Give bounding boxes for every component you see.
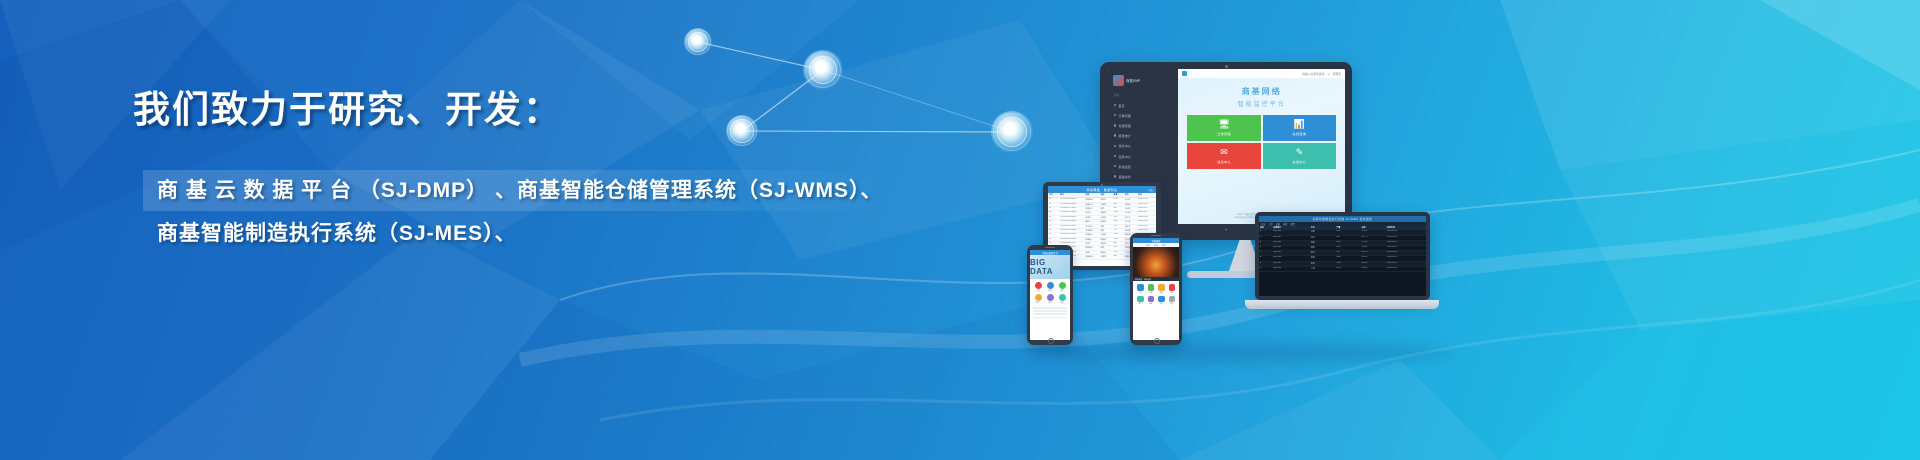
table-cell: 主控模块 <box>1084 229 1099 232</box>
table-cell: 成品 <box>1099 225 1112 228</box>
table-cell: 成品箱 K <box>1084 246 1099 249</box>
laptop-title: 商基智能制造执行系统 SJ-MES 实时监控 <box>1313 217 1373 221</box>
table-cell: 连接件 B <box>1084 203 1099 206</box>
menu-item-label: 仓储 <box>1149 292 1152 294</box>
media-thumbnail[interactable] <box>1133 247 1179 277</box>
user-label[interactable]: 管理员 <box>1333 72 1341 76</box>
menu-item-label: 订单 <box>1139 292 1142 294</box>
cluster-shadow <box>1035 343 1455 363</box>
menu-item[interactable]: 消息 <box>1157 296 1166 306</box>
col-header: 状态 <box>1124 193 1137 197</box>
sidebar-item-label: 任务中心 <box>1118 154 1130 159</box>
phone-menu-grid: 订单库存报表客户消息设置 <box>1030 279 1070 307</box>
table-cell: 2014-01-13 <box>1386 230 1426 234</box>
menu-item-icon <box>1137 284 1144 291</box>
table-cell: EQ-0102 <box>1272 236 1310 240</box>
bullet-icon <box>1114 175 1116 177</box>
bullet-icon <box>1114 104 1116 106</box>
menu-item[interactable]: 制造 <box>1157 284 1166 294</box>
table-cell: 入库 <box>1310 267 1335 271</box>
status-badge: ● <box>1259 262 1272 266</box>
home-button-icon[interactable] <box>1154 338 1160 344</box>
table-cell: SJ-20140110-0010 <box>1059 238 1084 241</box>
menu-item[interactable]: 报表 <box>1168 284 1177 294</box>
page-title: 我们致力于研究、开发： <box>133 88 993 132</box>
table-row[interactable]: ●EQ-0108入库119099.4%2014-01-13 <box>1259 267 1426 272</box>
table-cell: 09 <box>1048 233 1059 236</box>
table-cell: 2014-01-09 <box>1137 229 1156 232</box>
table-cell: SJ-20140109-0008 <box>1059 229 1084 232</box>
table-cell: 装配 <box>1310 246 1335 250</box>
table-cell: 640 <box>1113 242 1124 245</box>
table-cell: 显示屏 G <box>1084 225 1099 228</box>
table-cell: SJ-20140107-0003 <box>1059 207 1084 210</box>
table-cell: SJ-20140108-0006 <box>1059 220 1084 223</box>
table-cell: 成品 <box>1099 246 1112 249</box>
edit-icon: ✎ <box>1296 148 1304 157</box>
status-badge: ● <box>1259 246 1272 250</box>
table-cell: 已入库 <box>1124 211 1137 214</box>
table-cell: SJ-20140110-0009 <box>1059 233 1084 236</box>
phone-menu-grid: 订单仓储制造报表客户审批消息更多 <box>1133 281 1179 308</box>
table-cell: 2014-01-09 <box>1137 225 1156 228</box>
menu-item-label: 设置 <box>1060 302 1063 304</box>
sidebar-item-warehouse[interactable]: 仓储管理 <box>1110 120 1175 130</box>
table-cell: 1190 <box>1335 267 1360 271</box>
menu-item-icon <box>1158 284 1165 291</box>
table-cell: 760 <box>1113 216 1124 219</box>
table-cell: 275 <box>1113 229 1124 232</box>
tablet-title: 商基网络 · 数据列表 <box>1086 188 1117 192</box>
status-badge: ● <box>1259 256 1272 260</box>
bullet-icon <box>1114 155 1116 157</box>
table-cell: 原材料 <box>1099 198 1112 201</box>
menu-item[interactable]: 订单 <box>1136 284 1145 294</box>
table-cell: EQ-0103 <box>1272 241 1310 245</box>
table-cell: 2014-01-13 <box>1386 241 1426 245</box>
menu-item[interactable]: 报表 <box>1057 282 1067 292</box>
menu-item-icon <box>1169 296 1176 303</box>
table-cell: 08 <box>1048 229 1059 232</box>
table-cell: 2014-01-13 <box>1386 262 1426 266</box>
menu-item-icon <box>1047 294 1054 301</box>
table-cell: 外壳 D <box>1084 211 1099 214</box>
table-cell: 04 <box>1048 211 1059 214</box>
table-cell: EQ-0105 <box>1272 251 1310 255</box>
table-cell: 2014-01-13 <box>1386 267 1426 271</box>
dashboard-tiles-row-2: ✉ 消息中心 ✎ 在线办公 <box>1178 141 1345 169</box>
table-cell: 1580 <box>1335 256 1360 260</box>
table-cell: 01 <box>1048 198 1059 201</box>
sidebar-section-label: 导航 <box>1114 93 1175 97</box>
table-cell: 10 <box>1048 238 1059 241</box>
col-header: 编号 <box>1059 193 1084 197</box>
menu-item-label: 消息 <box>1160 303 1163 305</box>
col-header: 序号 <box>1048 193 1059 197</box>
table-cell: 98.7% <box>1361 236 1386 240</box>
table-cell: 成品 <box>1099 207 1112 210</box>
menu-item-label: 报表 <box>1170 292 1173 294</box>
table-cell: 包装箱 A <box>1084 198 1099 201</box>
menu-item-icon <box>1047 282 1054 289</box>
menu-item-icon <box>1137 296 1144 303</box>
list-item <box>1033 317 1067 319</box>
menu-item[interactable]: 仓储 <box>1147 284 1156 294</box>
menu-item[interactable]: 设置 <box>1057 294 1067 304</box>
sidebar-item-basedata[interactable]: 基础资料 <box>1110 171 1175 181</box>
menu-item[interactable]: 客户 <box>1033 294 1043 304</box>
menu-item[interactable]: 库存 <box>1045 282 1055 292</box>
table-cell: SJ-20140109-0007 <box>1059 225 1084 228</box>
network-node-2 <box>803 50 843 90</box>
menu-item-icon <box>1148 296 1155 303</box>
table-cell: 860 <box>1113 203 1124 206</box>
table-cell: 2014-01-06 <box>1137 203 1156 206</box>
table-cell: 托盘 J <box>1084 242 1099 245</box>
table-cell: 2014-01-13 <box>1386 256 1426 260</box>
table-cell: 03 <box>1048 207 1059 210</box>
table-cell: 原材料 <box>1099 220 1112 223</box>
table-cell: 99.4% <box>1361 267 1386 271</box>
sidebar-logo: 商基DMP <box>1113 75 1175 86</box>
dashboard-topbar: 请输入关键字搜索 ⚲ 管理员 <box>1178 69 1345 78</box>
menu-item-icon <box>1059 294 1066 301</box>
menu-item[interactable]: 更多 <box>1168 296 1177 306</box>
table-cell: 98.3% <box>1361 262 1386 266</box>
menu-item-icon <box>1158 296 1165 303</box>
table-cell: 线束 E <box>1084 216 1099 219</box>
home-button-icon[interactable] <box>1048 338 1054 344</box>
list-item <box>1033 310 1067 312</box>
menu-item-icon <box>1035 282 1042 289</box>
sidebar-item-label: 消息中心 <box>1118 143 1130 148</box>
menu-item-label: 订单 <box>1036 290 1039 292</box>
sidebar-item-label: 订单管理 <box>1118 113 1130 118</box>
dashboard-main: 请输入关键字搜索 ⚲ 管理员 商基网络 智能监控平台 🖥 日常管理 <box>1178 69 1345 224</box>
sidebar-item-orders[interactable]: 订单管理 <box>1110 110 1175 120</box>
app-logo-icon <box>1182 71 1187 76</box>
table-cell: 原材料 <box>1099 242 1112 245</box>
hero-text: BIG DATA <box>1030 258 1070 276</box>
table-cell: 2014-01-13 <box>1386 246 1426 250</box>
sidebar-item-home[interactable]: 首页 <box>1110 100 1175 110</box>
phone-hero-image: BIG DATA <box>1030 255 1070 279</box>
table-cell: 2014-01-08 <box>1137 220 1156 223</box>
table-cell: 980 <box>1113 255 1124 258</box>
table-cell: 注塑 <box>1310 230 1335 234</box>
hero-subtitle: 智能监控平台 <box>1178 99 1345 108</box>
table-cell: SJ-20140108-0005 <box>1059 216 1084 219</box>
menu-item-icon <box>1169 284 1176 291</box>
table-cell: 原材料 <box>1099 211 1112 214</box>
table-cell: 已入库 <box>1124 198 1137 201</box>
table-cell: 9800 <box>1113 220 1124 223</box>
phone-title: 商基云数据平台 <box>1042 251 1057 255</box>
table-cell: 420 <box>1113 246 1124 249</box>
table-cell: 螺丝 F <box>1084 220 1099 223</box>
mail-icon: ✉ <box>1220 148 1228 157</box>
table-cell: 1120 <box>1335 246 1360 250</box>
laptop-base <box>1245 300 1439 309</box>
sidebar-item-label: 仓储管理 <box>1118 123 1130 128</box>
status-badge: ● <box>1259 241 1272 245</box>
table-cell: 540 <box>1113 207 1124 210</box>
sidebar-item-messages[interactable]: 消息中心 <box>1110 141 1175 151</box>
sidebar-item-tasks[interactable]: 任务中心 <box>1110 151 1175 161</box>
sidebar-item-label: 系统设置 <box>1118 164 1130 169</box>
table-cell: EQ-0104 <box>1272 246 1310 250</box>
menu-item-label: 消息 <box>1048 302 1051 304</box>
bullet-icon <box>1114 165 1116 167</box>
camera-icon <box>1225 65 1228 68</box>
bullet-icon <box>1114 145 1116 147</box>
table-cell: 检测 <box>1310 256 1335 260</box>
menu-item[interactable]: 客户 <box>1136 296 1145 306</box>
product-list: 商 基 云 数 据 平 台 （SJ-DMP） 、商基智能仓储管理系统（SJ-WM… <box>133 170 993 244</box>
status-badge: ● <box>1259 236 1272 240</box>
table-cell: 半成品 <box>1099 255 1112 258</box>
tile-label: 日常管理 <box>1217 131 1231 136</box>
tile-online-query[interactable]: 📊 在线查询 <box>1263 115 1336 141</box>
tile-label: 在线办公 <box>1293 159 1307 164</box>
menu-item-label: 制造 <box>1160 292 1163 294</box>
table-cell: 06 <box>1048 220 1059 223</box>
table-cell: 生产中 <box>1124 216 1137 219</box>
table-cell: 3100 <box>1113 251 1124 254</box>
table-cell: 电源线 M <box>1084 255 1099 258</box>
table-cell: 冲压 <box>1310 236 1335 240</box>
phone-right-screen: 商基网络 首页 资讯 我的 智能制造 · 现场直播 订单仓储制造报表客户审批消息… <box>1133 238 1179 340</box>
table-cell: 半成品 <box>1099 216 1112 219</box>
table-cell: 半成品 <box>1099 233 1112 236</box>
phone-left-screen: 商基云数据平台 BIG DATA 订单库存报表客户消息设置 <box>1030 250 1070 340</box>
speaker-icon <box>1151 235 1161 236</box>
table-cell: 已入库 <box>1124 220 1137 223</box>
sidebar-item-settings[interactable]: 系统设置 <box>1110 161 1175 171</box>
menu-item-label: 报表 <box>1060 290 1063 292</box>
product-line-1: 商 基 云 数 据 平 台 （SJ-DMP） 、商基智能仓储管理系统（SJ-WM… <box>143 170 891 211</box>
table-cell: 2014-01-13 <box>1386 236 1426 240</box>
list-item <box>1033 313 1067 315</box>
col-header: 数量 <box>1113 193 1124 197</box>
table-cell: 2014-01-07 <box>1137 211 1156 214</box>
phone-left-device: 商基云数据平台 BIG DATA 订单库存报表客户消息设置 <box>1027 245 1073 345</box>
table-cell: 99.9% <box>1361 256 1386 260</box>
dashboard-tiles-row-1: 🖥 日常管理 📊 在线查询 <box>1178 108 1345 141</box>
table-cell: 99.6% <box>1361 246 1386 250</box>
sidebar-item-label: 首页 <box>1118 103 1124 108</box>
menu-item-label: 审批 <box>1149 303 1152 305</box>
bullet-icon <box>1114 124 1116 126</box>
table-cell: 1455 <box>1335 241 1360 245</box>
laptop-table-body: ●EQ-0101注塑128099.2%2014-01-13●EQ-0102冲压9… <box>1259 230 1426 272</box>
menu-item[interactable]: 审批 <box>1147 296 1156 306</box>
table-cell: 原材料 <box>1099 251 1112 254</box>
table-cell: 97.5% <box>1361 241 1386 245</box>
table-cell: 待检验 <box>1124 203 1137 206</box>
table-cell: EQ-0107 <box>1272 262 1310 266</box>
laptop-body: 商基智能制造执行系统 SJ-MES 实时监控 总览 工单 设备 质检 报警 状态… <box>1255 212 1430 300</box>
col-header: 类型 <box>1099 193 1112 197</box>
tile-online-office[interactable]: ✎ 在线办公 <box>1263 143 1336 169</box>
sidebar-item-label: 基础资料 <box>1118 174 1130 179</box>
monitor-icon: 🖥 <box>1218 120 1229 129</box>
menu-item-icon <box>1148 284 1155 291</box>
tile-label: 在线查询 <box>1293 131 1307 136</box>
table-cell: 包装 <box>1310 262 1335 266</box>
table-cell: 喷涂 <box>1310 251 1335 255</box>
device-cluster: 商基DMP 导航 首页 订单管理 仓储管理 <box>1005 55 1485 355</box>
apple-logo-icon <box>1223 229 1230 237</box>
table-cell: 已出库 <box>1124 207 1137 210</box>
menu-item[interactable]: 订单 <box>1033 282 1043 292</box>
table-cell: 05 <box>1048 216 1059 219</box>
laptop-device: 商基智能制造执行系统 SJ-MES 实时监控 总览 工单 设备 质检 报警 状态… <box>1255 212 1430 310</box>
table-cell: 1280 <box>1335 230 1360 234</box>
table-cell: 1340 <box>1335 262 1360 266</box>
menu-item-icon <box>1035 294 1042 301</box>
table-cell: EQ-0101 <box>1272 230 1310 234</box>
bullet-icon <box>1114 114 1116 116</box>
table-cell: 1180 <box>1113 233 1124 236</box>
sidebar-item-reports[interactable]: 报表统计 <box>1110 131 1175 141</box>
table-cell: 半成品 <box>1099 203 1112 206</box>
table-cell: 标签纸 I <box>1084 238 1099 241</box>
bullet-icon <box>1114 134 1116 136</box>
search-input[interactable]: 请输入关键字搜索 <box>1302 72 1324 76</box>
network-node-1 <box>684 28 712 56</box>
menu-item-label: 客户 <box>1036 302 1039 304</box>
table-cell: 2014-01-07 <box>1137 207 1156 210</box>
table-cell: 5400 <box>1113 238 1124 241</box>
table-cell: 2014-01-13 <box>1386 251 1426 255</box>
menu-item[interactable]: 消息 <box>1045 294 1055 304</box>
table-cell: 99.2% <box>1361 230 1386 234</box>
table-cell: 2300 <box>1113 211 1124 214</box>
table-cell: SJ-20140106-0002 <box>1059 203 1084 206</box>
table-cell: EQ-0106 <box>1272 256 1310 260</box>
table-cell: 07 <box>1048 225 1059 228</box>
hero-title: 商基网络 <box>1178 86 1345 97</box>
table-cell: 2014-01-06 <box>1137 198 1156 201</box>
table-cell: SJ-20140107-0004 <box>1059 211 1084 214</box>
table-cell: 960 <box>1335 236 1360 240</box>
table-cell: EQ-0108 <box>1272 267 1310 271</box>
table-cell: 胶带 L <box>1084 251 1099 254</box>
table-cell: 电控板 C <box>1084 207 1099 210</box>
product-line-2: 商基智能制造执行系统（SJ-MES）、 <box>133 211 993 244</box>
table-cell: 待发货 <box>1124 225 1137 228</box>
table-cell: 已出库 <box>1124 229 1137 232</box>
menu-item-icon <box>1059 282 1066 289</box>
col-header: 名称 <box>1084 193 1099 197</box>
table-cell: 原材料 <box>1099 238 1112 241</box>
sidebar-item-label: 报表统计 <box>1118 133 1130 138</box>
phone-right-device: 商基网络 首页 资讯 我的 智能制造 · 现场直播 订单仓储制造报表客户审批消息… <box>1130 233 1182 345</box>
table-cell: 1200 <box>1113 198 1124 201</box>
table-cell: 02 <box>1048 203 1059 206</box>
topbar-right: 请输入关键字搜索 ⚲ 管理员 <box>1302 72 1341 76</box>
table-cell: 310 <box>1113 225 1124 228</box>
table-cell: 传感器 H <box>1084 233 1099 236</box>
search-icon[interactable]: ⚲ <box>1328 72 1330 76</box>
sidebar-logo-label: 商基DMP <box>1126 78 1140 83</box>
status-badge: ● <box>1259 230 1272 234</box>
tile-message-center[interactable]: ✉ 消息中心 <box>1187 143 1260 169</box>
phone-title: 商基网络 <box>1152 239 1161 243</box>
laptop-screen: 商基智能制造执行系统 SJ-MES 实时监控 总览 工单 设备 质检 报警 状态… <box>1259 216 1426 296</box>
phone-list-placeholder <box>1030 307 1070 320</box>
table-cell: 730 <box>1335 251 1360 255</box>
banner-copy: 我们致力于研究、开发： 商 基 云 数 据 平 台 （SJ-DMP） 、商基智能… <box>133 88 993 244</box>
hero-banner: 我们致力于研究、开发： 商 基 云 数 据 平 台 （SJ-DMP） 、商基智能… <box>0 0 1920 460</box>
tile-label: 消息中心 <box>1217 159 1231 164</box>
export-button[interactable]: 导出 <box>1148 188 1153 192</box>
chart-icon: 📊 <box>1294 120 1305 129</box>
list-item <box>1033 307 1067 309</box>
brand-logo-icon <box>1113 75 1124 86</box>
tablet-header: 商基网络 · 数据列表 导出 <box>1048 186 1156 193</box>
table-cell: 成品 <box>1099 229 1112 232</box>
table-cell: 2014-01-08 <box>1137 216 1156 219</box>
table-cell: 焊接 <box>1310 241 1335 245</box>
menu-item-label: 库存 <box>1048 290 1051 292</box>
menu-item-label: 更多 <box>1170 303 1173 305</box>
dashboard-hero: 商基网络 智能监控平台 <box>1178 86 1345 108</box>
status-badge: ● <box>1259 267 1272 271</box>
table-cell: SJ-20140106-0001 <box>1059 198 1084 201</box>
speaker-icon <box>1045 247 1055 248</box>
status-badge: ● <box>1259 251 1272 255</box>
tile-daily-management[interactable]: 🖥 日常管理 <box>1187 115 1260 141</box>
menu-item-label: 客户 <box>1139 303 1142 305</box>
col-header: 时间 <box>1137 193 1156 197</box>
table-cell: 96.1% <box>1361 251 1386 255</box>
